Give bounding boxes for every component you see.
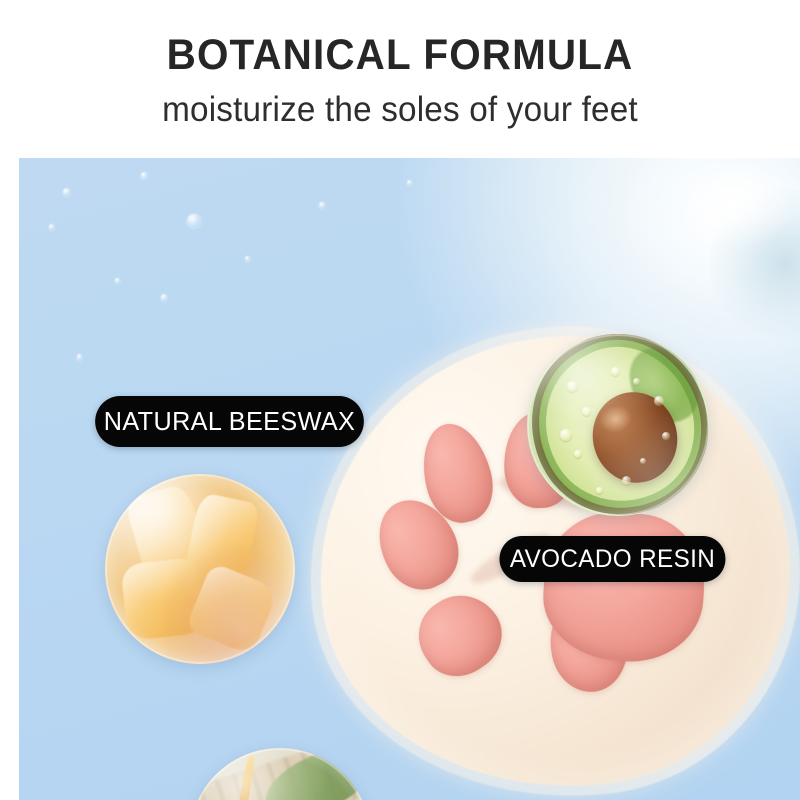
water-droplet [115,278,120,284]
water-droplet [187,214,201,228]
background-haze [679,158,799,248]
water-droplet [319,202,325,209]
ingredient-label-avocado: AVOCADO RESIN [499,536,725,582]
product-poster: BOTANICAL FORMULA moisturize the soles o… [0,0,800,800]
water-droplet [245,256,250,262]
ingredient-sphere-beeswax [105,474,295,664]
ingredient-sphere-avocado [527,334,709,516]
water-droplet [141,172,147,180]
water-droplet [77,354,82,361]
water-droplet [49,224,54,231]
background-haze [709,188,800,338]
hero-photo: NATURAL BEESWAX AVOCADO RESIN JOJOBA SEE… [19,158,800,800]
header: BOTANICAL FORMULA moisturize the soles o… [0,0,800,158]
background-haze [619,158,800,308]
glass-highlight [527,334,709,516]
page-title: BOTANICAL FORMULA [24,30,776,80]
ingredient-sphere-jojoba [189,748,371,800]
ingredient-label-beeswax: NATURAL BEESWAX [95,396,364,447]
water-droplet [161,294,167,302]
water-droplet [407,180,412,186]
water-droplet [63,188,70,197]
glass-highlight [105,474,295,664]
page-subtitle: moisturize the soles of your feet [20,88,780,132]
